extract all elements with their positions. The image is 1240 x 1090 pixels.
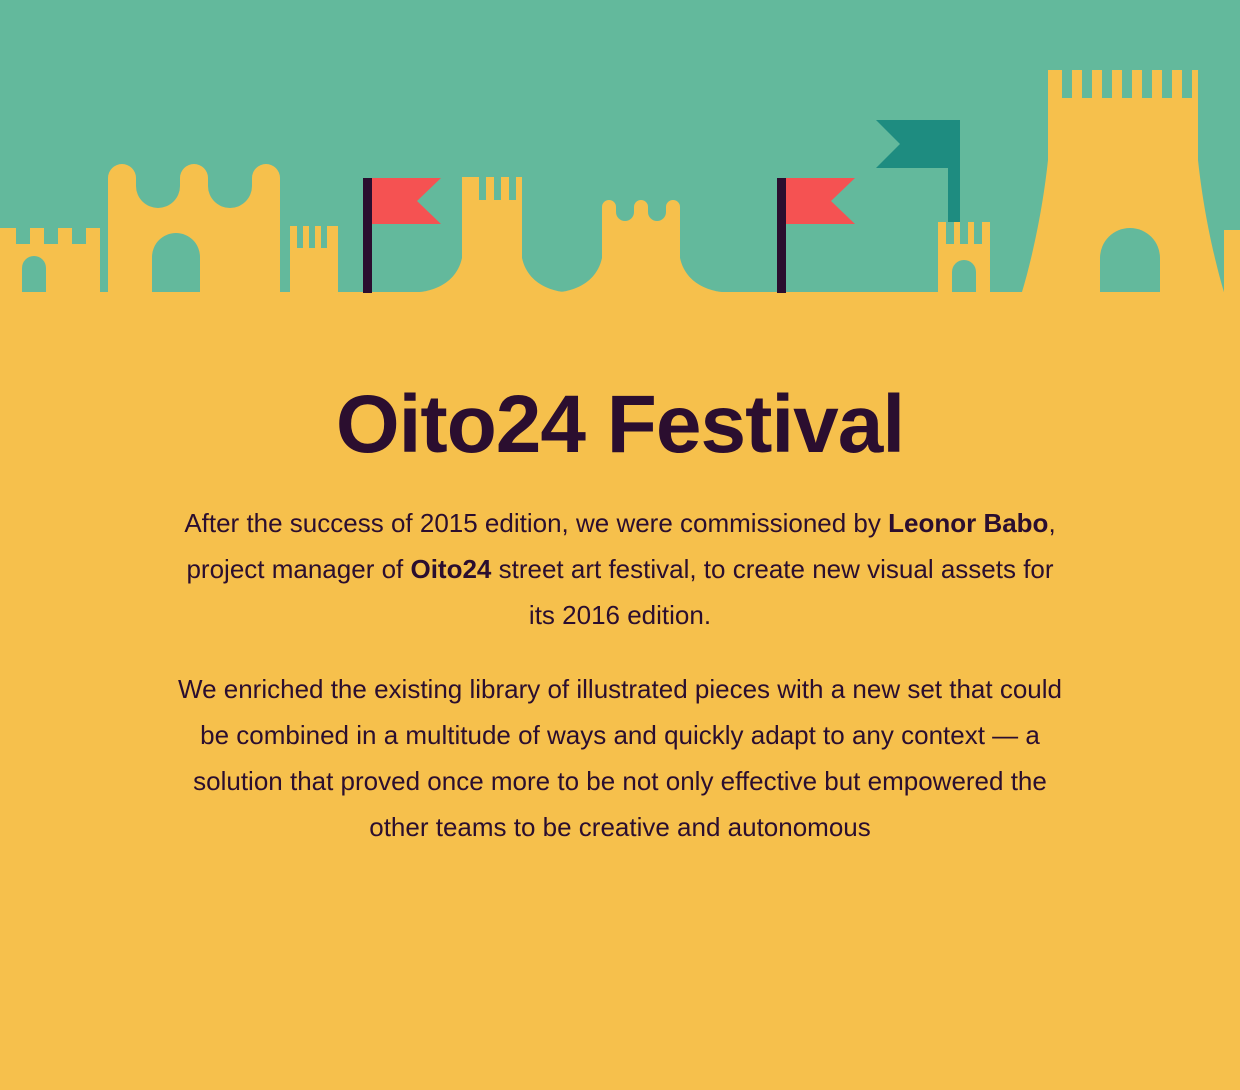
tower-small-right [938, 222, 990, 292]
ground-band [0, 292, 1240, 320]
intro-bold-person: Leonor Babo [888, 508, 1048, 538]
ground-right-edge [1224, 230, 1240, 292]
festival-case-study-page: Oito24 Festival After the success of 201… [0, 0, 1240, 1090]
intro-bold-brand: Oito24 [410, 554, 491, 584]
wall-tower-left-door [22, 256, 46, 292]
great-tower-right [1022, 70, 1224, 292]
content-area: Oito24 Festival After the success of 201… [0, 320, 1240, 850]
tower-small-right-door [952, 260, 976, 292]
keep-rounded-crenellations [108, 164, 280, 292]
castle-skyline-illustration [0, 0, 1240, 320]
flag-teal-pole [948, 120, 960, 236]
intro-paragraph: After the success of 2015 edition, we we… [170, 500, 1070, 638]
great-tower-right-door [1100, 228, 1160, 292]
description-paragraph: We enriched the existing library of illu… [160, 666, 1080, 850]
intro-part-1: After the success of 2015 edition, we we… [184, 508, 888, 538]
flag-red-right-pole [777, 178, 786, 293]
keep-door [152, 233, 200, 292]
flag-red-left-pole [363, 178, 372, 293]
page-title: Oito24 Festival [0, 320, 1240, 468]
tower-slim-left [290, 226, 338, 292]
intro-part-3: street art festival, to create new visua… [491, 554, 1053, 630]
